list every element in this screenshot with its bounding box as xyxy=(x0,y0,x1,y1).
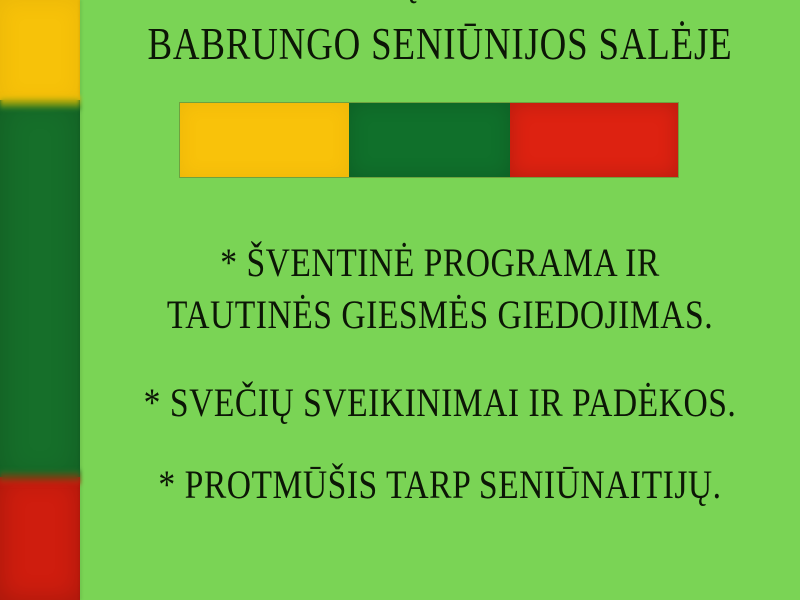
lithuanian-flag-banner xyxy=(180,103,678,177)
flag-strip-blend-green-red xyxy=(0,470,80,484)
flag-strip-band-green xyxy=(0,100,80,480)
program-item-2: * SVEČIŲ SVEIKINIMAI IR PADĖKOS. xyxy=(138,380,743,426)
flag-strip-band-yellow xyxy=(0,0,80,103)
spacer-2 xyxy=(80,338,800,380)
cut-off-headline-text: ŠVENČIŲ RENGINYS xyxy=(152,0,728,8)
program-item-1-line-1: * ŠVENTINĖ PROGRAMA IR xyxy=(138,240,743,286)
program-item-3: * PROTMŪŠIS TARP SENIŪNAITIJŲ. xyxy=(138,462,743,508)
page-title: BABRUNGO SENIŪNIJOS SALĖJE xyxy=(145,16,735,72)
flag-banner-segment-green xyxy=(349,103,510,177)
program-list: * ŠVENTINĖ PROGRAMA IR TAUTINĖS GIESMĖS … xyxy=(80,240,800,508)
lithuanian-flag-vertical-strip xyxy=(0,0,80,600)
poster-canvas: ŠVENČIŲ RENGINYS BABRUNGO SENIŪNIJOS SAL… xyxy=(0,0,800,600)
flag-banner-segment-yellow xyxy=(180,103,349,177)
cut-off-headline: ŠVENČIŲ RENGINYS xyxy=(80,0,800,14)
flag-strip-band-red xyxy=(0,477,80,600)
flag-strip-blend-yellow-green xyxy=(0,96,80,110)
program-item-1-line-2: TAUTINĖS GIESMĖS GIEDOJIMAS. xyxy=(138,292,743,338)
flag-banner-segment-red xyxy=(510,103,678,177)
spacer-3 xyxy=(80,426,800,462)
